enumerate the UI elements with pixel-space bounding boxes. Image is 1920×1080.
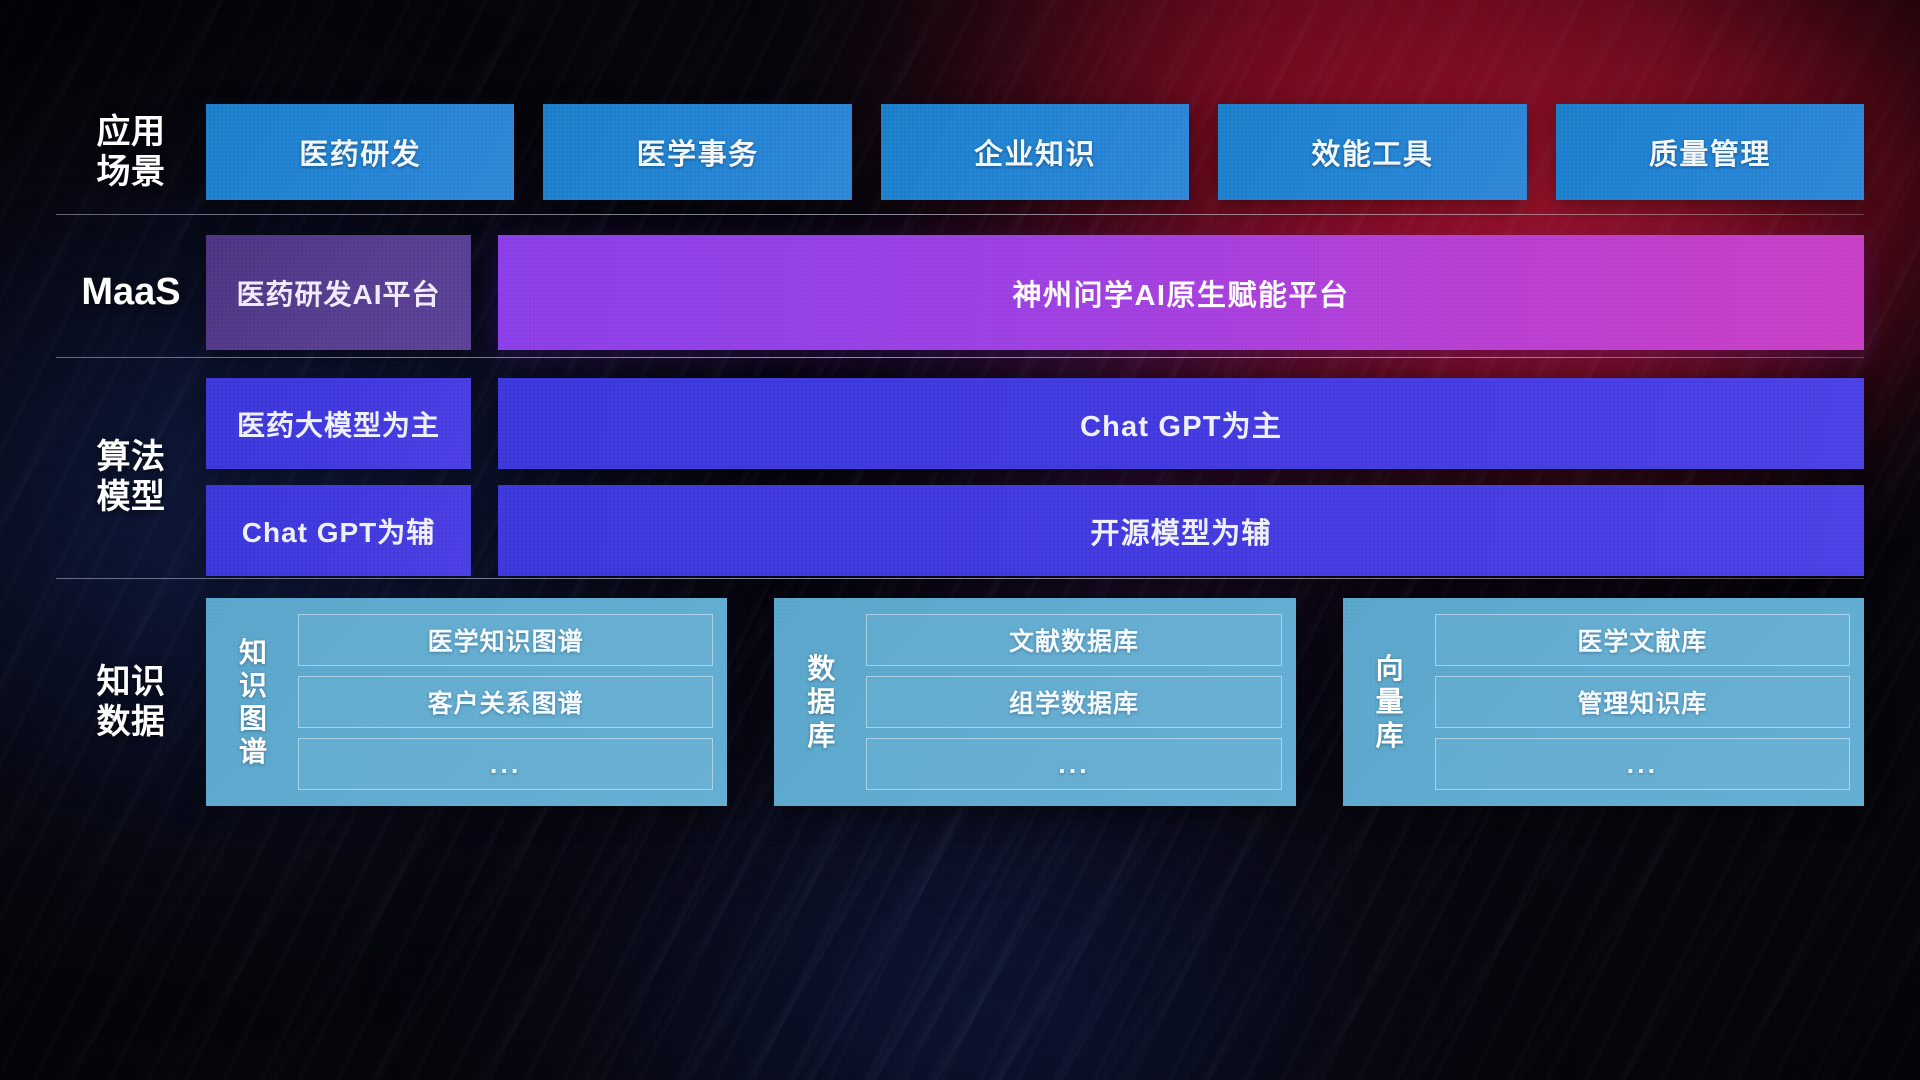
knowledge-item-more[interactable]: ...: [298, 738, 713, 790]
knowledge-item-list: 医学文献库 管理知识库 ...: [1435, 614, 1850, 790]
app-box-quality-management[interactable]: 质量管理: [1556, 104, 1864, 200]
algo-box-label: 开源模型为辅: [1090, 510, 1271, 552]
maas-box-label: 医药研发AI平台: [236, 273, 440, 313]
knowledge-item-management-knowledge[interactable]: 管理知识库: [1435, 676, 1850, 728]
knowledge-panel-group: 知 识 图 谱 医学知识图谱 客户关系图谱 ... 数 据 库: [206, 598, 1864, 806]
vlabel-char: 向: [1376, 652, 1404, 685]
row-label-algorithm-line2: 模型: [56, 477, 206, 517]
vlabel-char: 据: [807, 685, 835, 718]
row-knowledge: 知识 数据 知 识 图 谱 医学知识图谱 客户关系图谱 ... 数: [56, 598, 1864, 806]
application-box-group: 医药研发 医学事务 企业知识 效能工具 质量管理: [206, 104, 1864, 200]
app-box-label: 医学事务: [637, 131, 759, 173]
maas-box-group: 医药研发AI平台 神州问学AI原生赋能平台: [206, 235, 1864, 350]
algo-box-chatgpt-secondary[interactable]: Chat GPT为辅: [206, 485, 471, 576]
algo-box-label: Chat GPT为主: [1080, 403, 1282, 445]
app-box-enterprise-knowledge[interactable]: 企业知识: [881, 104, 1189, 200]
knowledge-item-label: 文献数据库: [1009, 622, 1139, 658]
knowledge-item-customer-graph[interactable]: 客户关系图谱: [298, 676, 713, 728]
row-label-knowledge: 知识 数据: [56, 662, 206, 742]
divider-2: [56, 357, 1864, 358]
knowledge-item-literature-db[interactable]: 文献数据库: [866, 614, 1281, 666]
knowledge-panel-knowledge-graph: 知 识 图 谱 医学知识图谱 客户关系图谱 ...: [206, 598, 727, 806]
knowledge-panel-vector-store: 向 量 库 医学文献库 管理知识库 ...: [1343, 598, 1864, 806]
knowledge-item-label: ...: [1627, 749, 1659, 780]
app-box-drug-rd[interactable]: 医药研发: [206, 104, 514, 200]
knowledge-item-more[interactable]: ...: [866, 738, 1281, 790]
app-box-label: 质量管理: [1649, 131, 1771, 173]
knowledge-panel-vertical-label: 向 量 库: [1359, 614, 1421, 790]
app-box-efficiency-tools[interactable]: 效能工具: [1218, 104, 1526, 200]
knowledge-item-list: 文献数据库 组学数据库 ...: [866, 614, 1281, 790]
maas-box-shenzhou-wenxue-platform[interactable]: 神州问学AI原生赋能平台: [498, 235, 1864, 350]
knowledge-item-medical-literature[interactable]: 医学文献库: [1435, 614, 1850, 666]
knowledge-item-label: ...: [1058, 749, 1090, 780]
vlabel-char: 识: [239, 669, 267, 702]
row-label-knowledge-line1: 知识: [56, 662, 206, 702]
row-label-maas: MaaS: [56, 270, 206, 315]
app-box-label: 企业知识: [974, 131, 1096, 173]
vlabel-char: 图: [239, 702, 267, 735]
algo-box-pharma-llm-primary[interactable]: 医药大模型为主: [206, 378, 471, 469]
row-label-applications-line2: 场景: [56, 152, 206, 192]
algo-box-chatgpt-primary[interactable]: Chat GPT为主: [498, 378, 1864, 469]
knowledge-item-more[interactable]: ...: [1435, 738, 1850, 790]
vlabel-char: 数: [807, 652, 835, 685]
row-label-knowledge-line2: 数据: [56, 702, 206, 742]
vlabel-char: 库: [1376, 719, 1404, 752]
algo-box-opensource-secondary[interactable]: 开源模型为辅: [498, 485, 1864, 576]
algorithm-box-group: 医药大模型为主 Chat GPT为主 Chat GPT为辅 开源模型为辅: [206, 378, 1864, 576]
row-label-applications-line1: 应用: [56, 112, 206, 152]
knowledge-item-omics-db[interactable]: 组学数据库: [866, 676, 1281, 728]
maas-box-label: 神州问学AI原生赋能平台: [1012, 272, 1349, 314]
vlabel-char: 库: [807, 719, 835, 752]
architecture-diagram: 应用 场景 医药研发 医学事务 企业知识 效能工具 质量管理 MaaS 医药研发…: [0, 0, 1920, 1080]
app-box-label: 效能工具: [1311, 131, 1433, 173]
knowledge-item-label: ...: [490, 749, 522, 780]
row-applications: 应用 场景 医药研发 医学事务 企业知识 效能工具 质量管理: [56, 104, 1864, 200]
knowledge-item-label: 医学知识图谱: [428, 622, 584, 658]
algo-box-label: Chat GPT为辅: [242, 511, 436, 551]
knowledge-item-label: 组学数据库: [1009, 684, 1139, 720]
knowledge-panel-vertical-label: 知 识 图 谱: [222, 614, 284, 790]
knowledge-item-label: 客户关系图谱: [428, 684, 584, 720]
knowledge-item-medical-graph[interactable]: 医学知识图谱: [298, 614, 713, 666]
row-maas: MaaS 医药研发AI平台 神州问学AI原生赋能平台: [56, 235, 1864, 350]
knowledge-item-label: 管理知识库: [1577, 684, 1707, 720]
vlabel-char: 知: [239, 636, 267, 669]
knowledge-panel-vertical-label: 数 据 库: [790, 614, 852, 790]
algorithm-line-secondary: Chat GPT为辅 开源模型为辅: [206, 485, 1864, 576]
knowledge-panel-database: 数 据 库 文献数据库 组学数据库 ...: [774, 598, 1295, 806]
divider-3: [56, 578, 1864, 579]
algo-box-label: 医药大模型为主: [237, 404, 440, 444]
row-label-algorithm: 算法 模型: [56, 437, 206, 517]
knowledge-item-list: 医学知识图谱 客户关系图谱 ...: [298, 614, 713, 790]
vlabel-char: 量: [1376, 685, 1404, 718]
maas-box-drug-ai-platform[interactable]: 医药研发AI平台: [206, 235, 471, 350]
algorithm-line-primary: 医药大模型为主 Chat GPT为主: [206, 378, 1864, 469]
app-box-medical-affairs[interactable]: 医学事务: [543, 104, 851, 200]
vlabel-char: 谱: [239, 735, 267, 768]
row-label-algorithm-line1: 算法: [56, 437, 206, 477]
app-box-label: 医药研发: [299, 131, 421, 173]
row-label-applications: 应用 场景: [56, 112, 206, 192]
row-algorithm: 算法 模型 医药大模型为主 Chat GPT为主 Chat GPT为辅 开源模型…: [56, 378, 1864, 576]
knowledge-item-label: 医学文献库: [1577, 622, 1707, 658]
divider-1: [56, 214, 1864, 215]
